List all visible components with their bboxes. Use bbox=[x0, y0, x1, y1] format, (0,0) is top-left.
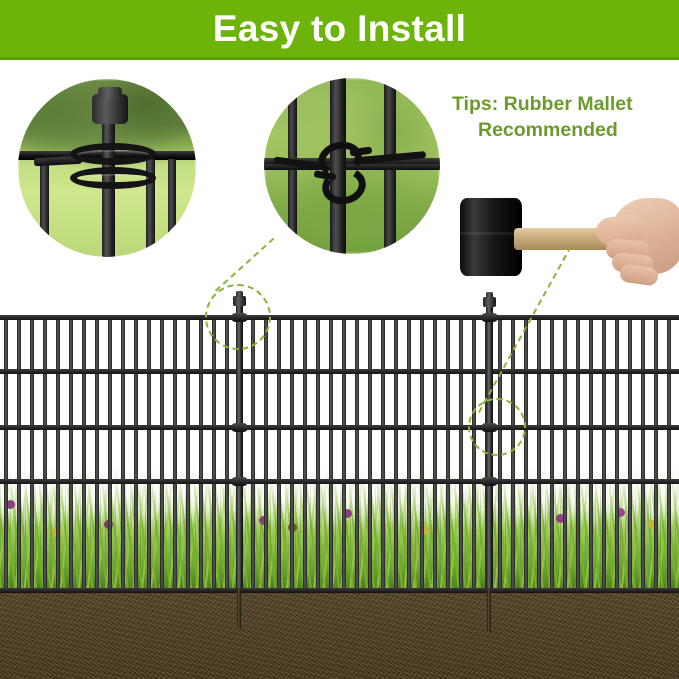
fence-horizontal-rail bbox=[0, 369, 679, 374]
fence-vertical-bar bbox=[355, 315, 359, 588]
fence-vertical-bar bbox=[303, 315, 307, 588]
fence-vertical-bar bbox=[17, 315, 21, 588]
fence-vertical-bar bbox=[95, 315, 99, 588]
fence-vertical-bar bbox=[212, 315, 216, 588]
tips-label: Tips: bbox=[452, 93, 498, 115]
fence-vertical-bar bbox=[472, 315, 476, 588]
fence-vertical-bar bbox=[459, 315, 463, 588]
fence-vertical-bar bbox=[394, 315, 398, 588]
fence-vertical-bar bbox=[576, 315, 580, 588]
detail-s-hook-upper bbox=[70, 143, 156, 165]
fence-horizontal-rail bbox=[0, 425, 679, 430]
post-top-nut-detail-circle bbox=[18, 79, 196, 257]
infographic-canvas: Easy to Install Tips: Rubber Mallet Reco… bbox=[0, 0, 679, 679]
fence-post-ground-stake bbox=[237, 588, 241, 628]
fence-horizontal-rail bbox=[0, 588, 679, 593]
fence-vertical-bar bbox=[420, 315, 424, 588]
fence-s-hook-clamp bbox=[231, 423, 248, 432]
fence-vertical-bar bbox=[4, 315, 8, 588]
fence-post-cap bbox=[483, 297, 496, 307]
tips-line-1: Rubber Mallet bbox=[504, 93, 633, 115]
fence-vertical-bar bbox=[654, 315, 658, 588]
fence-vertical-bar bbox=[446, 315, 450, 588]
fence-vertical-bar bbox=[199, 315, 203, 588]
fence-post-ground-stake bbox=[487, 588, 491, 632]
fence-vertical-bar bbox=[381, 315, 385, 588]
detail-s-hook-lower bbox=[70, 167, 156, 189]
fence-vertical-bar bbox=[225, 315, 229, 588]
fence-horizontal-rail bbox=[0, 315, 679, 320]
fence-vertical-bar bbox=[433, 315, 437, 588]
fence-vertical-bar bbox=[524, 315, 528, 588]
fence-vertical-bar bbox=[667, 315, 671, 588]
callout-line-post-top bbox=[215, 238, 274, 292]
fence-vertical-bar bbox=[69, 315, 73, 588]
detail-vertical-bar-left bbox=[40, 159, 49, 257]
fence-s-hook-clamp bbox=[231, 477, 248, 486]
fence-vertical-bar bbox=[628, 315, 632, 588]
fence-vertical-bar bbox=[251, 315, 255, 588]
rubber-mallet-illustration bbox=[452, 192, 679, 292]
fence-vertical-bar bbox=[147, 315, 151, 588]
fence-vertical-bar bbox=[186, 315, 190, 588]
mallet-head bbox=[460, 198, 522, 276]
fence-vertical-bar bbox=[537, 315, 541, 588]
tips-text: Tips: Rubber Mallet Recommended bbox=[452, 91, 672, 143]
hand-holding-mallet bbox=[592, 194, 679, 290]
fence-vertical-bar bbox=[82, 315, 86, 588]
fence-vertical-bar bbox=[30, 315, 34, 588]
fence-vertical-bar bbox=[121, 315, 125, 588]
fence-vertical-bar bbox=[134, 315, 138, 588]
tips-line-2: Recommended bbox=[452, 117, 672, 143]
fence-vertical-bar bbox=[316, 315, 320, 588]
callout-circle-post-top bbox=[205, 284, 271, 350]
header-banner: Easy to Install bbox=[0, 0, 679, 60]
fence-horizontal-rail bbox=[0, 479, 679, 484]
fence-panels bbox=[0, 292, 679, 592]
fence-vertical-bar bbox=[329, 315, 333, 588]
fence-vertical-bar bbox=[615, 315, 619, 588]
fence-vertical-bar bbox=[277, 315, 281, 588]
s-hook-joint-detail-circle bbox=[264, 78, 440, 254]
fence-vertical-bar bbox=[563, 315, 567, 588]
fence-vertical-bar bbox=[160, 315, 164, 588]
callout-circle-s-hook bbox=[468, 398, 526, 456]
scene-soil bbox=[0, 588, 679, 679]
fence-vertical-bar bbox=[108, 315, 112, 588]
fence-vertical-bar bbox=[641, 315, 645, 588]
fence-vertical-bar bbox=[264, 315, 268, 588]
detail-vertical-bar-right-2 bbox=[168, 159, 176, 257]
fence-s-hook-clamp bbox=[481, 313, 498, 322]
fence-vertical-bar bbox=[56, 315, 60, 588]
page-title: Easy to Install bbox=[0, 0, 679, 57]
fence-vertical-bar bbox=[290, 315, 294, 588]
fence-vertical-bar bbox=[407, 315, 411, 588]
fence-vertical-bar bbox=[173, 315, 177, 588]
fence-vertical-bar bbox=[550, 315, 554, 588]
fence-vertical-bar bbox=[342, 315, 346, 588]
fence-vertical-bar bbox=[43, 315, 47, 588]
fence-scene bbox=[0, 292, 679, 679]
fence-vertical-bar bbox=[602, 315, 606, 588]
fence-s-hook-clamp bbox=[481, 477, 498, 486]
fence-vertical-bar bbox=[589, 315, 593, 588]
detail-nut-cap bbox=[92, 94, 128, 124]
fence-vertical-bar bbox=[368, 315, 372, 588]
